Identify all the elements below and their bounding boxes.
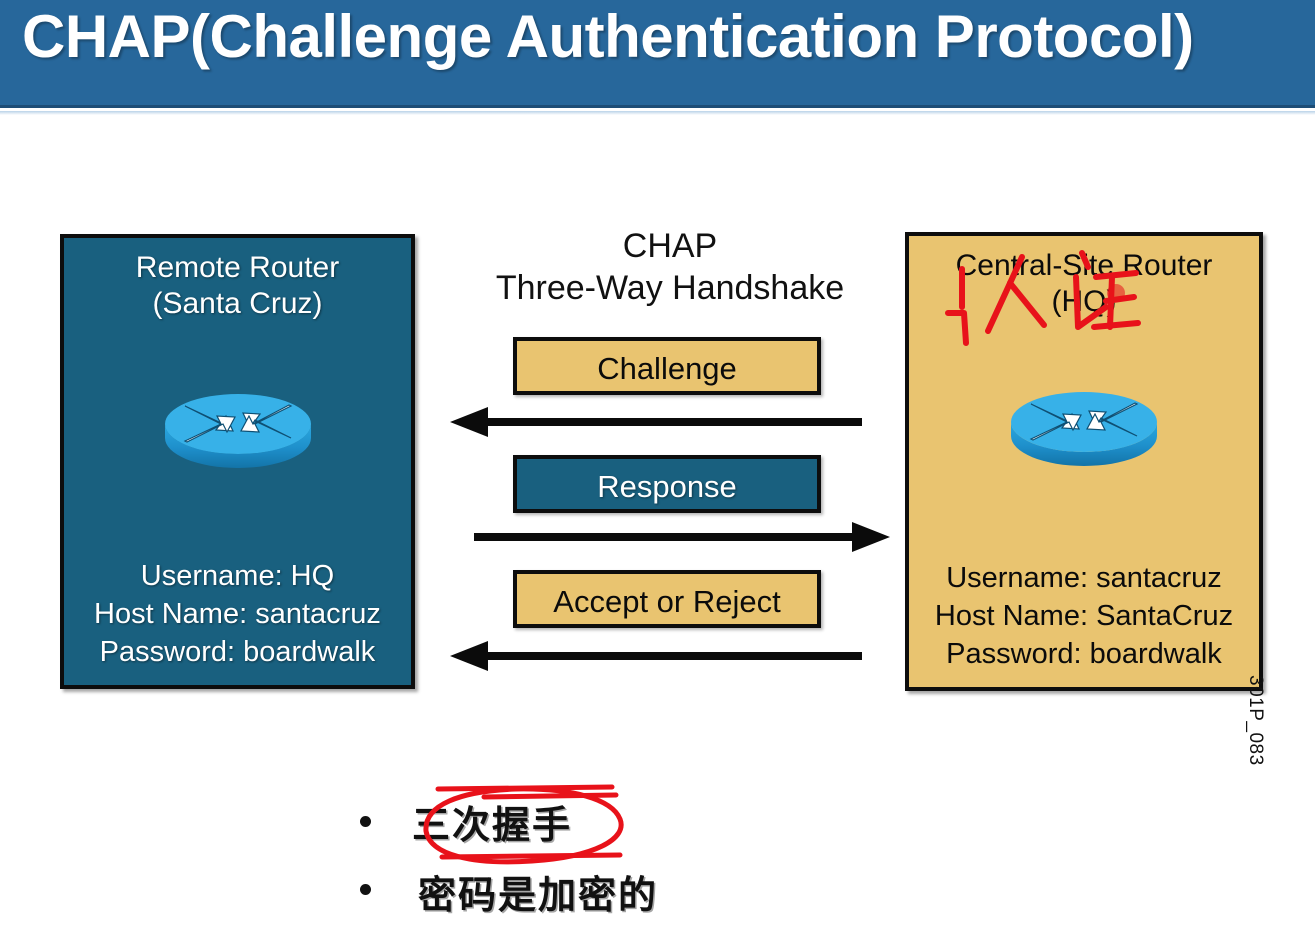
remote-password: Password: boardwalk: [64, 633, 411, 671]
page-title: CHAP(Challenge Authentication Protocol): [22, 2, 1194, 71]
slide-content-area: Remote Router (Santa Cruz): [0, 115, 1315, 937]
arrow-left-accept-or-reject: [450, 641, 870, 671]
bullet-dot-icon: [360, 816, 371, 827]
message-box-response: Response: [513, 455, 821, 513]
remote-router-credentials: Username: HQ Host Name: santacruz Passwo…: [64, 557, 411, 671]
central-router-credentials: Username: santacruz Host Name: SantaCruz…: [909, 559, 1259, 673]
bullet-text-password-encrypted: 密码是加密的: [418, 864, 658, 919]
summary-bullet-list: 三次握手 密码是加密的: [360, 790, 1060, 926]
bullet-text-three-way-handshake: 三次握手: [412, 794, 572, 849]
slide-title-bar: CHAP(Challenge Authentication Protocol): [0, 0, 1315, 108]
remote-router-panel: Remote Router (Santa Cruz): [60, 234, 415, 689]
central-router-title: Central-Site Router (HQ): [909, 248, 1259, 320]
arrow-left-challenge: [450, 407, 870, 437]
remote-username: Username: HQ: [64, 557, 411, 595]
cisco-router-icon: [163, 376, 313, 488]
remote-router-title: Remote Router (Santa Cruz): [64, 250, 411, 322]
message-box-accept-or-reject: Accept or Reject: [513, 570, 821, 628]
list-item: 密码是加密的: [360, 858, 1060, 926]
arrow-right-response: [470, 522, 890, 552]
list-item: 三次握手: [360, 790, 1060, 858]
central-site-router-panel: Central-Site Router (HQ): [905, 232, 1263, 691]
central-username: Username: santacruz: [909, 559, 1259, 597]
handshake-heading: CHAP Three-Way Handshake: [440, 225, 900, 309]
slide-reference-code: 301P_083: [1244, 675, 1266, 766]
bullet-dot-icon: [360, 884, 371, 895]
message-box-challenge: Challenge: [513, 337, 821, 395]
cisco-router-icon: [1009, 374, 1159, 486]
central-password: Password: boardwalk: [909, 635, 1259, 673]
central-hostname: Host Name: SantaCruz: [909, 597, 1259, 635]
remote-hostname: Host Name: santacruz: [64, 595, 411, 633]
